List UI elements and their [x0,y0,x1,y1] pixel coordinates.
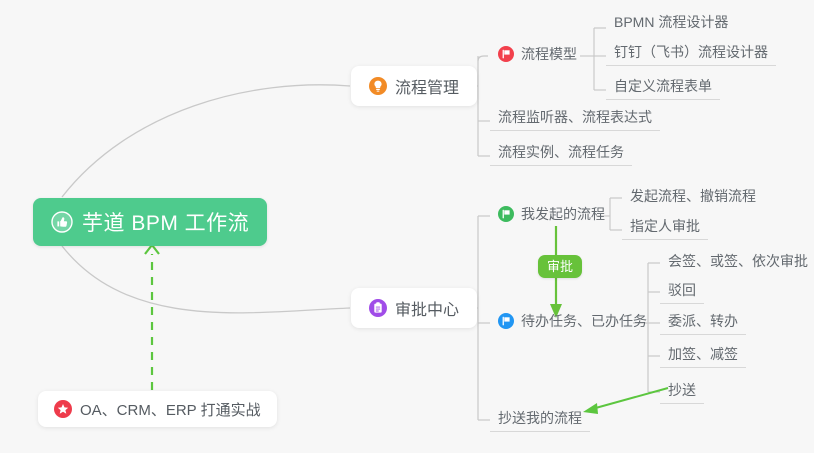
leaf-custom-form[interactable]: 自定义流程表单 [606,76,720,100]
root-label: 芋道 BPM 工作流 [82,207,249,237]
branch-label-approval-center: 审批中心 [395,296,459,320]
flag-icon [498,313,514,329]
link-root-to-approval-center [62,246,350,313]
branch-approval-center[interactable]: 审批中心 [351,288,477,328]
star-icon [54,400,72,418]
leaf-reject[interactable]: 驳回 [660,280,704,304]
leaf-label: 流程监听器、流程表达式 [498,107,652,127]
leaf-label: BPMN 流程设计器 [614,12,728,32]
clipboard-icon [369,299,387,317]
node-process-model[interactable]: 流程模型 [490,44,585,68]
lightbulb-icon [369,77,387,95]
arrow-bottom-dashed-head [145,245,159,254]
branch-label-process-management: 流程管理 [395,74,459,98]
leaf-label: 流程实例、流程任务 [498,142,624,162]
leaf-label: 钉钉（飞书）流程设计器 [614,42,768,62]
leaf-label: 发起流程、撤销流程 [630,186,756,206]
leaf-assignee-approval[interactable]: 指定人审批 [622,216,708,240]
mindmap-canvas: 芋道 BPM 工作流 流程管理 流程模型 BPMN 流程设计器 钉钉（飞书 [0,0,814,453]
leaf-bpmn-designer[interactable]: BPMN 流程设计器 [606,12,736,36]
leaf-label: 会签、或签、依次审批 [668,251,808,271]
node-label-process-model: 流程模型 [521,44,577,64]
leaf-delegate-transfer[interactable]: 委派、转办 [660,311,746,335]
leaf-label: 指定人审批 [630,216,700,236]
leaf-label: 委派、转办 [668,311,738,331]
link-pm-bracket-top [478,56,488,61]
leaf-label: 抄送 [668,380,696,400]
leaf-countersign[interactable]: 会签、或签、依次审批 [660,251,814,275]
leaf-label: 抄送我的流程 [498,408,582,428]
card-label-integration-practice: OA、CRM、ERP 打通实战 [80,399,261,420]
approve-badge: 审批 [538,255,582,278]
root-node[interactable]: 芋道 BPM 工作流 [33,198,267,246]
link-root-to-process-management [62,85,350,197]
flag-icon [498,206,514,222]
leaf-process-listener[interactable]: 流程监听器、流程表达式 [490,107,660,131]
leaf-label: 加签、减签 [668,344,738,364]
card-integration-practice[interactable]: OA、CRM、ERP 打通实战 [38,391,277,427]
leaf-label: 驳回 [668,280,696,300]
node-todo-done-task[interactable]: 待办任务、已办任务 [490,311,655,335]
leaf-start-cancel-process[interactable]: 发起流程、撤销流程 [622,186,764,210]
node-my-started-process[interactable]: 我发起的流程 [490,204,613,228]
node-label-todo-done-task: 待办任务、已办任务 [521,311,647,331]
leaf-cc-to-me[interactable]: 抄送我的流程 [490,408,590,432]
leaf-dingtalk-designer[interactable]: 钉钉（飞书）流程设计器 [606,42,776,66]
thumbs-up-icon [51,211,73,233]
branch-process-management[interactable]: 流程管理 [351,66,477,106]
leaf-cc[interactable]: 抄送 [660,380,704,404]
leaf-process-instance[interactable]: 流程实例、流程任务 [490,142,632,166]
flag-icon [498,46,514,62]
leaf-add-remove-sign[interactable]: 加签、减签 [660,344,746,368]
node-label-my-started-process: 我发起的流程 [521,204,605,224]
arrow-cc-link [592,388,668,409]
leaf-label: 自定义流程表单 [614,76,712,96]
